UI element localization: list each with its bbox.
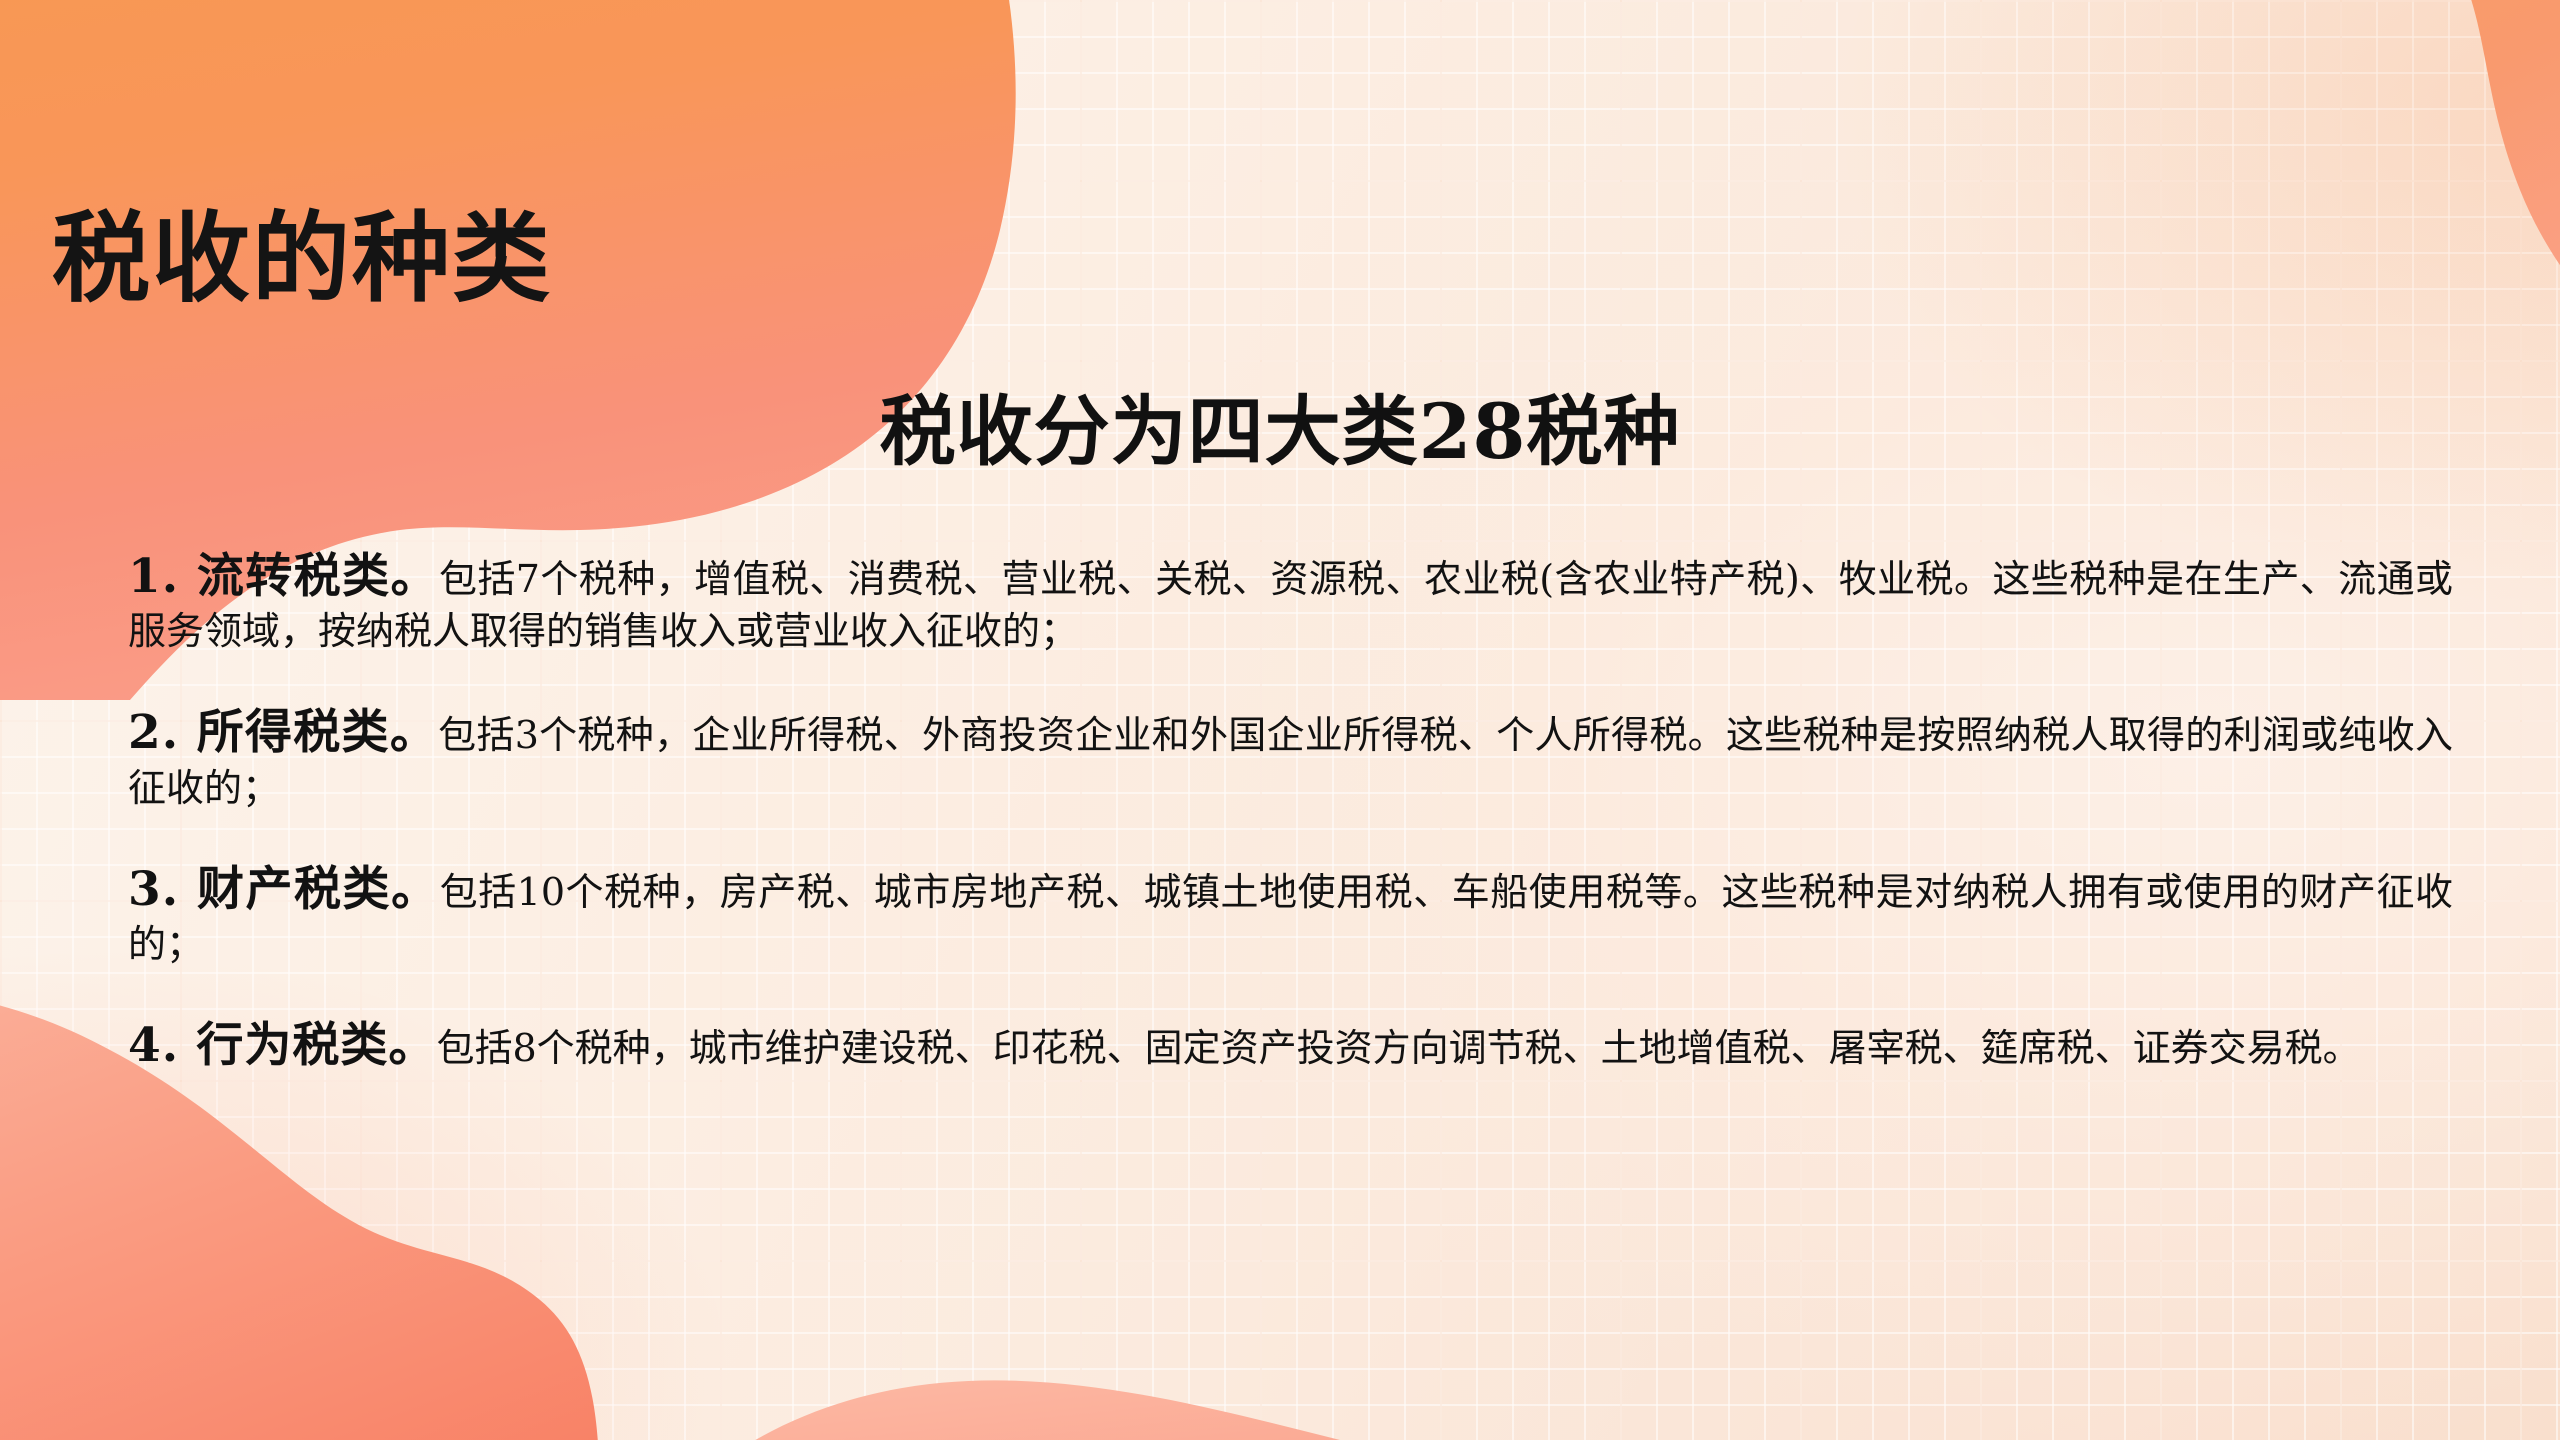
paragraph-text-2: 包括3个税种，企业所得税、外商投资企业和外国企业所得税、个人所得税。这些税种是按…: [128, 713, 2453, 809]
slide-subtitle: 税收分为四大类28税种: [0, 388, 2560, 475]
paragraph-heading-3: 3. 财产税类。: [128, 862, 440, 917]
slide-canvas: 税收的种类 税收分为四大类28税种 1. 流转税类。包括7个税种，增值税、消费税…: [0, 0, 2560, 1440]
body-paragraph: 1. 流转税类。包括7个税种，增值税、消费税、营业税、关税、资源税、农业税(含农…: [128, 546, 2453, 656]
paragraph-text-3: 包括10个税种，房产税、城市房地产税、城镇土地使用税、车船使用税等。这些税种是对…: [128, 870, 2453, 966]
slide-body: 1. 流转税类。包括7个税种，增值税、消费税、营业税、关税、资源税、农业税(含农…: [128, 530, 2453, 1077]
paragraph-heading-4: 4. 行为税类。: [128, 1018, 436, 1073]
body-paragraph: 3. 财产税类。包括10个税种，房产税、城市房地产税、城镇土地使用税、车船使用税…: [128, 859, 2453, 969]
paragraph-text-4: 包括8个税种，城市维护建设税、印花税、固定资产投资方向调节税、土地增值税、屠宰税…: [436, 1026, 2360, 1070]
paragraph-heading-1: 1. 流转税类。: [128, 549, 439, 604]
body-paragraph: 4. 行为税类。包括8个税种，城市维护建设税、印花税、固定资产投资方向调节税、土…: [128, 1015, 2453, 1076]
paragraph-heading-2: 2. 所得税类。: [128, 705, 438, 760]
slide-content: 税收的种类 税收分为四大类28税种 1. 流转税类。包括7个税种，增值税、消费税…: [0, 0, 2560, 1440]
body-paragraph: 2. 所得税类。包括3个税种，企业所得税、外商投资企业和外国企业所得税、个人所得…: [128, 702, 2453, 812]
slide-title: 税收的种类: [52, 208, 552, 311]
paragraph-text-1: 包括7个税种，增值税、消费税、营业税、关税、资源税、农业税(含农业特产税)、牧业…: [128, 557, 2453, 653]
